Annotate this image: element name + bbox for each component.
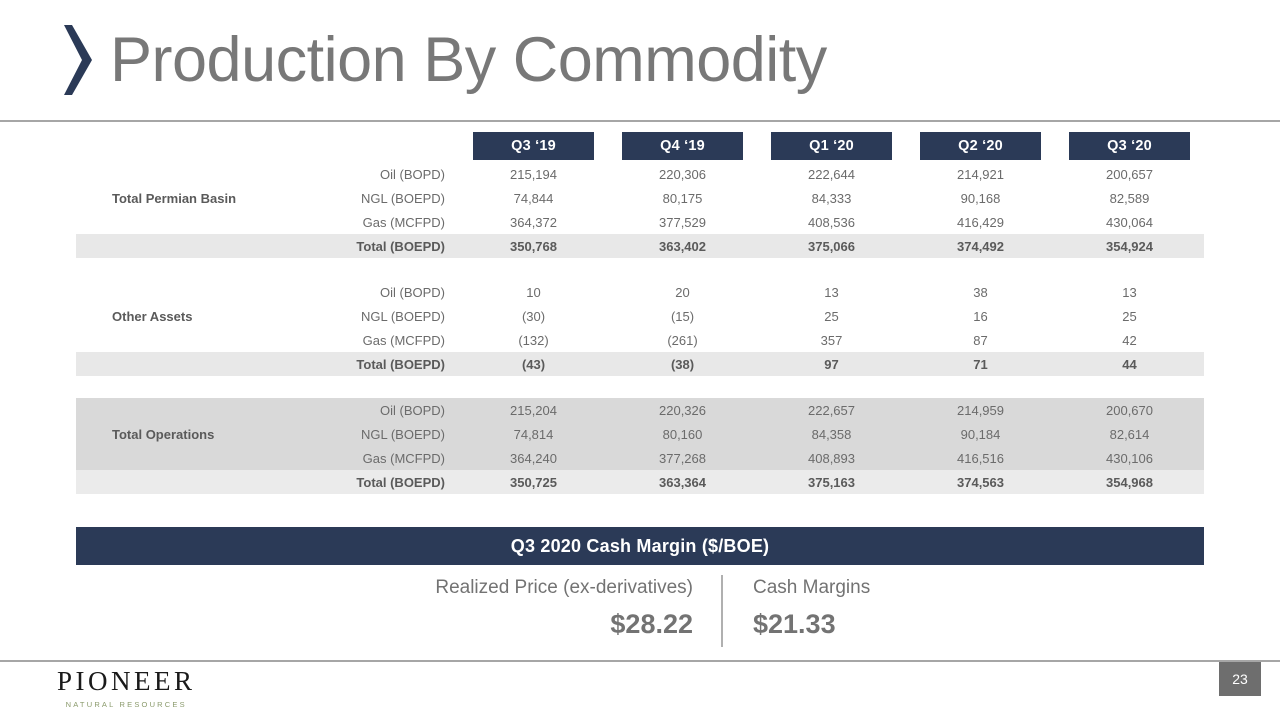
table-row: Oil (BOPD)215,204220,326222,657214,95920… <box>76 398 1204 422</box>
slide-root: Production By Commodity Q3 ‘19 Q4 ‘19 <box>0 0 1280 720</box>
value-cell: 220,326 <box>608 398 757 422</box>
value-cell: 42 <box>1055 328 1204 352</box>
table-row: Total (BOEPD)350,768363,402375,066374,49… <box>76 234 1204 258</box>
value-cell: 97 <box>757 352 906 376</box>
value-cell: 80,175 <box>608 186 757 210</box>
cash-margin-banner-title: Q3 2020 Cash Margin ($/BOE) <box>511 536 769 557</box>
spacer-cell <box>76 258 1204 280</box>
value-cell: 363,402 <box>608 234 757 258</box>
value-cell: (15) <box>608 304 757 328</box>
group-label-cell <box>76 280 276 304</box>
cash-margin-banner: Q3 2020 Cash Margin ($/BOE) <box>76 527 1204 565</box>
column-header-q3-20: Q3 ‘20 <box>1055 130 1204 162</box>
value-cell: 82,614 <box>1055 422 1204 446</box>
table-row: Total Permian BasinNGL (BOEPD)74,84480,1… <box>76 186 1204 210</box>
group-label-cell: Total Operations <box>76 422 276 446</box>
value-cell: 90,168 <box>906 186 1055 210</box>
metric-label-cell: Oil (BOPD) <box>276 398 459 422</box>
value-cell: 375,163 <box>757 470 906 494</box>
metric-label-cell: Total (BOEPD) <box>276 352 459 376</box>
group-label-cell <box>76 328 276 352</box>
value-cell: 87 <box>906 328 1055 352</box>
group-label-cell <box>76 446 276 470</box>
chevron-right-icon <box>58 23 98 97</box>
table-row: Total (BOEPD)350,725363,364375,163374,56… <box>76 470 1204 494</box>
production-table-body: Oil (BOPD)215,194220,306222,644214,92120… <box>76 162 1204 494</box>
page-title: Production By Commodity <box>110 29 827 92</box>
group-label-cell <box>76 398 276 422</box>
value-cell: 84,333 <box>757 186 906 210</box>
value-cell: 90,184 <box>906 422 1055 446</box>
metric-label-cell: Oil (BOPD) <box>276 162 459 186</box>
value-cell: 82,589 <box>1055 186 1204 210</box>
value-cell: 357 <box>757 328 906 352</box>
value-cell: 374,492 <box>906 234 1055 258</box>
column-header-q2-20: Q2 ‘20 <box>906 130 1055 162</box>
group-label-cell <box>76 352 276 376</box>
header-divider <box>0 120 1280 122</box>
column-header-label: Q4 ‘19 <box>622 132 743 160</box>
value-cell: (30) <box>459 304 608 328</box>
slide-header: Production By Commodity <box>0 0 1280 120</box>
table-row: Total (BOEPD)(43)(38)977144 <box>76 352 1204 376</box>
value-cell: 430,106 <box>1055 446 1204 470</box>
value-cell: 364,372 <box>459 210 608 234</box>
value-cell: 25 <box>757 304 906 328</box>
cash-margins-value: $21.33 <box>753 609 836 640</box>
value-cell: 377,268 <box>608 446 757 470</box>
column-header-q3-19: Q3 ‘19 <box>459 130 608 162</box>
value-cell: 214,921 <box>906 162 1055 186</box>
value-cell: 408,536 <box>757 210 906 234</box>
column-header-label: Q2 ‘20 <box>920 132 1041 160</box>
table-row: Total OperationsNGL (BOEPD)74,81480,1608… <box>76 422 1204 446</box>
value-cell: (43) <box>459 352 608 376</box>
cash-margins-block: Cash Margins $21.33 <box>723 575 870 640</box>
value-cell: 354,968 <box>1055 470 1204 494</box>
value-cell: 200,657 <box>1055 162 1204 186</box>
group-label-cell <box>76 210 276 234</box>
logo-wordmark: PIONEER <box>57 668 196 695</box>
production-table-wrapper: Q3 ‘19 Q4 ‘19 Q1 ‘20 Q2 ‘20 Q3 ‘20 <box>76 130 1204 494</box>
value-cell: 377,529 <box>608 210 757 234</box>
value-cell: 416,429 <box>906 210 1055 234</box>
group-label-cell: Other Assets <box>76 304 276 328</box>
table-row: Other AssetsNGL (BOEPD)(30)(15)251625 <box>76 304 1204 328</box>
value-cell: 13 <box>1055 280 1204 304</box>
column-header-q1-20: Q1 ‘20 <box>757 130 906 162</box>
metric-label-cell: Gas (MCFPD) <box>276 446 459 470</box>
metric-label-cell: Gas (MCFPD) <box>276 328 459 352</box>
value-cell: 16 <box>906 304 1055 328</box>
table-row: Oil (BOPD)1020133813 <box>76 280 1204 304</box>
metric-label-cell: NGL (BOEPD) <box>276 304 459 328</box>
value-cell: 364,240 <box>459 446 608 470</box>
value-cell: 215,194 <box>459 162 608 186</box>
table-row: Oil (BOPD)215,194220,306222,644214,92120… <box>76 162 1204 186</box>
value-cell: 74,844 <box>459 186 608 210</box>
column-header-label: Q1 ‘20 <box>771 132 892 160</box>
page-number-badge: 23 <box>1219 662 1261 696</box>
value-cell: (38) <box>608 352 757 376</box>
column-header-label: Q3 ‘20 <box>1069 132 1190 160</box>
value-cell: 430,064 <box>1055 210 1204 234</box>
value-cell: 10 <box>459 280 608 304</box>
value-cell: 20 <box>608 280 757 304</box>
value-cell: 222,644 <box>757 162 906 186</box>
footer-divider <box>0 660 1280 662</box>
value-cell: 354,924 <box>1055 234 1204 258</box>
value-cell: 200,670 <box>1055 398 1204 422</box>
column-header-label: Q3 ‘19 <box>473 132 594 160</box>
value-cell: (261) <box>608 328 757 352</box>
cash-margin-metrics: Realized Price (ex-derivatives) $28.22 C… <box>76 575 1204 650</box>
value-cell: 215,204 <box>459 398 608 422</box>
value-cell: 363,364 <box>608 470 757 494</box>
header-spacer-metric <box>276 130 459 162</box>
metric-label-cell: Total (BOEPD) <box>276 470 459 494</box>
value-cell: 13 <box>757 280 906 304</box>
logo-tagline: NATURAL RESOURCES <box>66 700 187 709</box>
group-label-cell: Total Permian Basin <box>76 186 276 210</box>
metric-label-cell: Total (BOEPD) <box>276 234 459 258</box>
value-cell: 222,657 <box>757 398 906 422</box>
value-cell: 214,959 <box>906 398 1055 422</box>
table-group-spacer <box>76 376 1204 398</box>
group-label-cell <box>76 162 276 186</box>
value-cell: 350,725 <box>459 470 608 494</box>
value-cell: 74,814 <box>459 422 608 446</box>
production-table: Q3 ‘19 Q4 ‘19 Q1 ‘20 Q2 ‘20 Q3 ‘20 <box>76 130 1204 494</box>
value-cell: 416,516 <box>906 446 1055 470</box>
metric-label-cell: NGL (BOEPD) <box>276 186 459 210</box>
group-label-cell <box>76 470 276 494</box>
value-cell: 374,563 <box>906 470 1055 494</box>
metric-label-cell: Oil (BOPD) <box>276 280 459 304</box>
value-cell: 84,358 <box>757 422 906 446</box>
pioneer-logo: PIONEER NATURAL RESOURCES <box>57 668 196 709</box>
table-header-row: Q3 ‘19 Q4 ‘19 Q1 ‘20 Q2 ‘20 Q3 ‘20 <box>76 130 1204 162</box>
header-spacer-group <box>76 130 276 162</box>
group-label-cell <box>76 234 276 258</box>
table-row: Gas (MCFPD)(132)(261)3578742 <box>76 328 1204 352</box>
value-cell: 408,893 <box>757 446 906 470</box>
realized-price-label: Realized Price (ex-derivatives) <box>435 575 693 601</box>
metric-label-cell: Gas (MCFPD) <box>276 210 459 234</box>
table-row: Gas (MCFPD)364,240377,268408,893416,5164… <box>76 446 1204 470</box>
value-cell: 375,066 <box>757 234 906 258</box>
value-cell: 25 <box>1055 304 1204 328</box>
realized-price-value: $28.22 <box>610 609 693 640</box>
value-cell: 38 <box>906 280 1055 304</box>
value-cell: (132) <box>459 328 608 352</box>
realized-price-block: Realized Price (ex-derivatives) $28.22 <box>76 575 721 640</box>
table-row: Gas (MCFPD)364,372377,529408,536416,4294… <box>76 210 1204 234</box>
page-number-label: 23 <box>1232 671 1248 687</box>
value-cell: 71 <box>906 352 1055 376</box>
spacer-cell <box>76 376 1204 398</box>
table-group-spacer <box>76 258 1204 280</box>
cash-margins-label: Cash Margins <box>753 575 870 601</box>
value-cell: 220,306 <box>608 162 757 186</box>
metric-label-cell: NGL (BOEPD) <box>276 422 459 446</box>
value-cell: 80,160 <box>608 422 757 446</box>
value-cell: 44 <box>1055 352 1204 376</box>
value-cell: 350,768 <box>459 234 608 258</box>
column-header-q4-19: Q4 ‘19 <box>608 130 757 162</box>
